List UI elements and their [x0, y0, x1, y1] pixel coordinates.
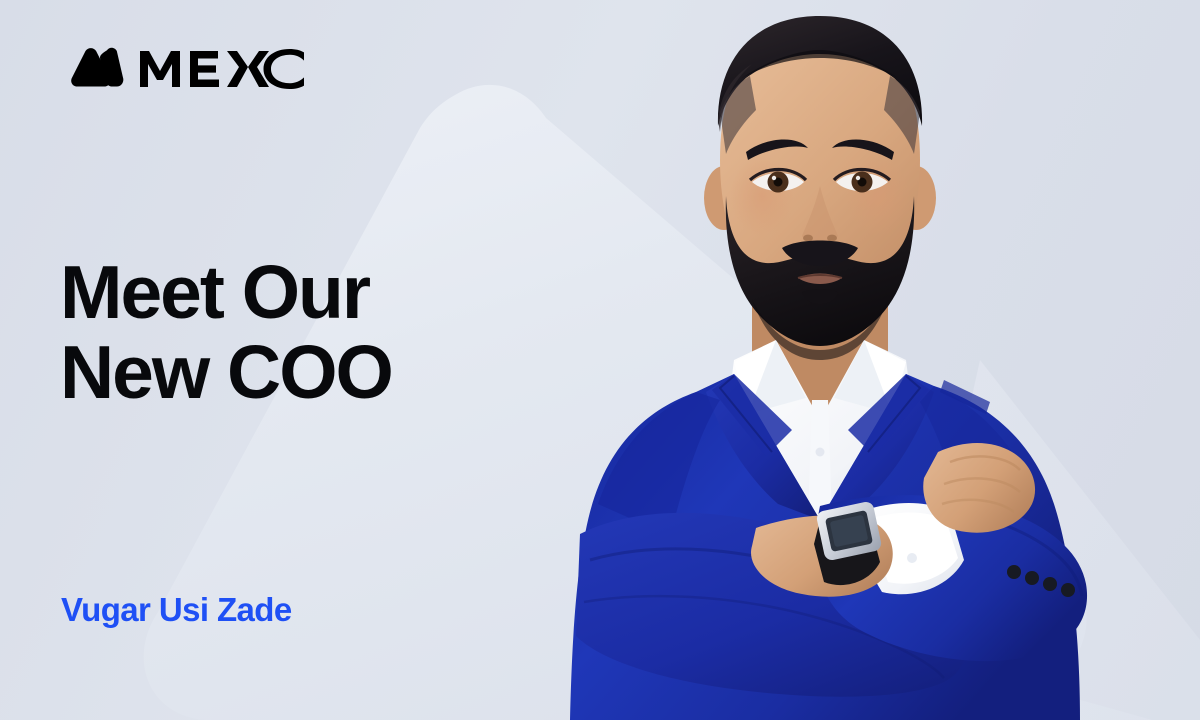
- page-title: Meet Our New COO: [60, 252, 392, 412]
- mexc-triangle-icon: [62, 46, 124, 90]
- announcement-banner: Meet Our New COO Vugar Usi Zade: [0, 0, 1200, 720]
- cuff-button: [907, 553, 917, 563]
- subject-name: Vugar Usi Zade: [61, 590, 292, 630]
- mexc-wordmark: [138, 47, 306, 89]
- wristwatch: [814, 501, 883, 586]
- portrait-photo: [520, 0, 1200, 720]
- mexc-logo[interactable]: [62, 44, 306, 92]
